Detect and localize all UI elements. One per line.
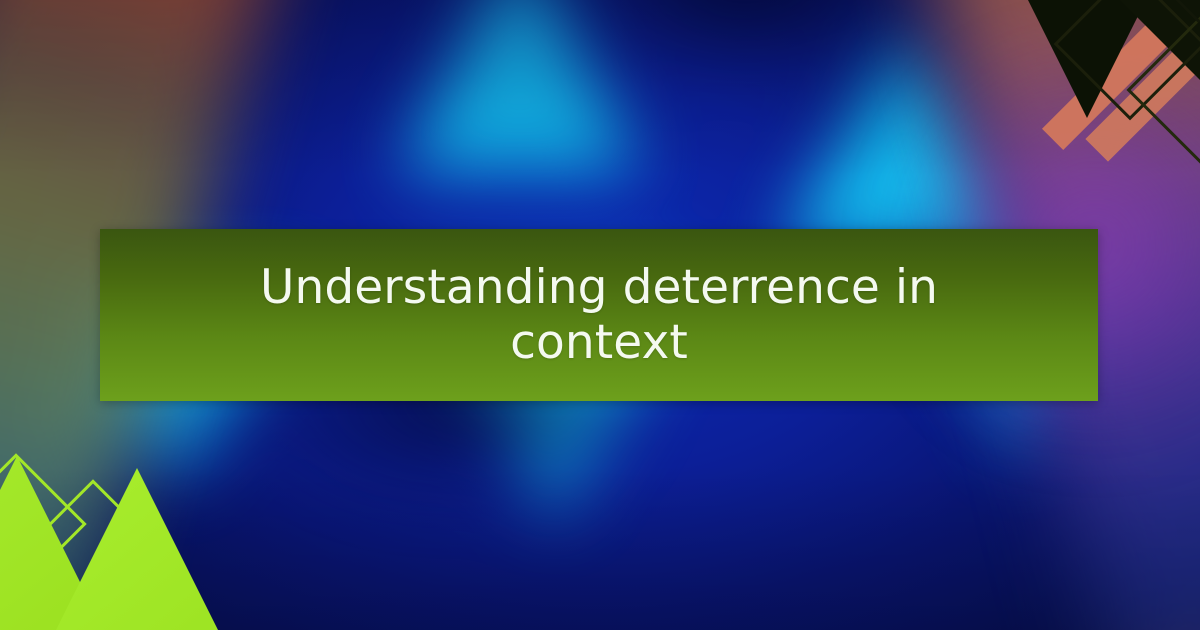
social-card: Understanding deterrence in context [0, 0, 1200, 630]
title-banner: Understanding deterrence in context [100, 229, 1098, 401]
page-title: Understanding deterrence in context [229, 260, 969, 371]
